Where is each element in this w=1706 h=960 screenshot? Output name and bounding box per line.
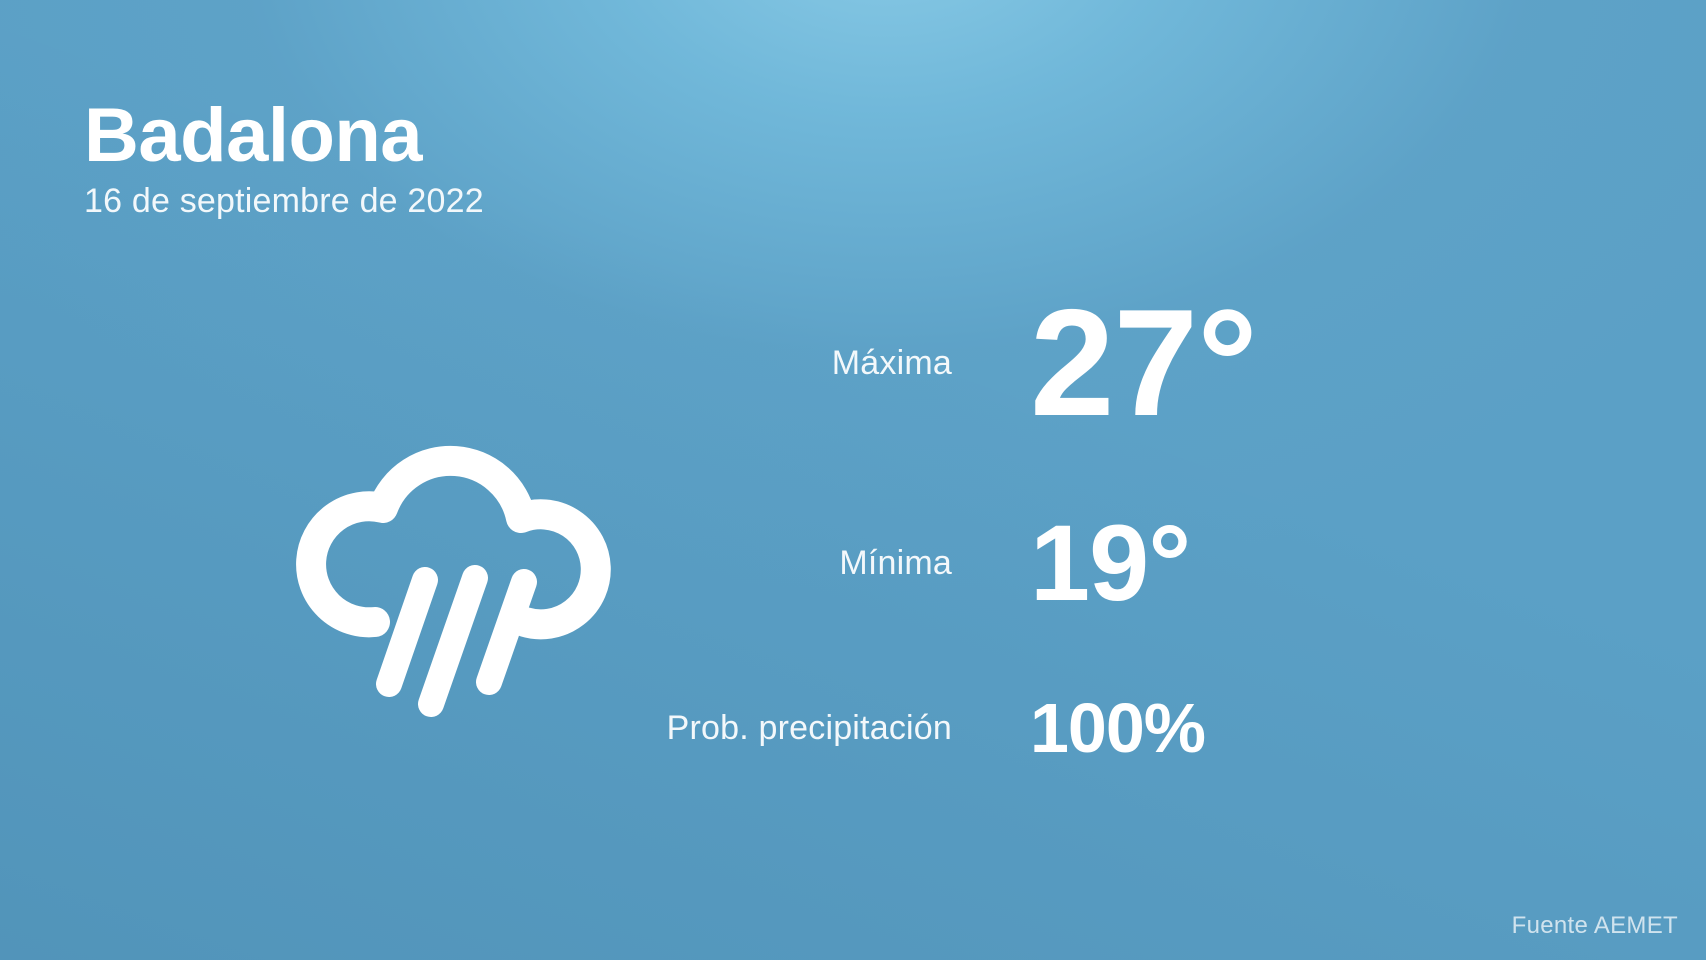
rain-streak-1 [389, 580, 425, 684]
source-credit: Fuente AEMET [1512, 912, 1678, 940]
maxima-label: Máxima [600, 344, 1030, 383]
rain-streaks [389, 578, 524, 704]
rain-cloud-icon-svg [275, 392, 615, 722]
weather-card: Badalona 16 de septiembre de 2022 Máxima… [0, 0, 1706, 960]
rain-streak-2 [431, 578, 475, 704]
rain-cloud-icon [275, 392, 615, 722]
rain-streak-3 [489, 582, 524, 682]
cloud-outline [311, 461, 596, 624]
page-title: Badalona [84, 96, 484, 176]
readings-list: Máxima 27° Mínima 19° Prob. precipitació… [600, 268, 1420, 788]
precipitation-value: 100% [1030, 693, 1420, 763]
reading-row-precipitation: Prob. precipitación 100% [600, 668, 1420, 788]
reading-row-minima: Mínima 19° [600, 458, 1420, 668]
maxima-value: 27° [1030, 287, 1420, 439]
reading-row-maxima: Máxima 27° [600, 268, 1420, 458]
precipitation-label: Prob. precipitación [600, 709, 1030, 748]
header-block: Badalona 16 de septiembre de 2022 [84, 96, 484, 221]
minima-label: Mínima [600, 544, 1030, 583]
forecast-date: 16 de septiembre de 2022 [84, 182, 484, 221]
minima-value: 19° [1030, 509, 1420, 617]
